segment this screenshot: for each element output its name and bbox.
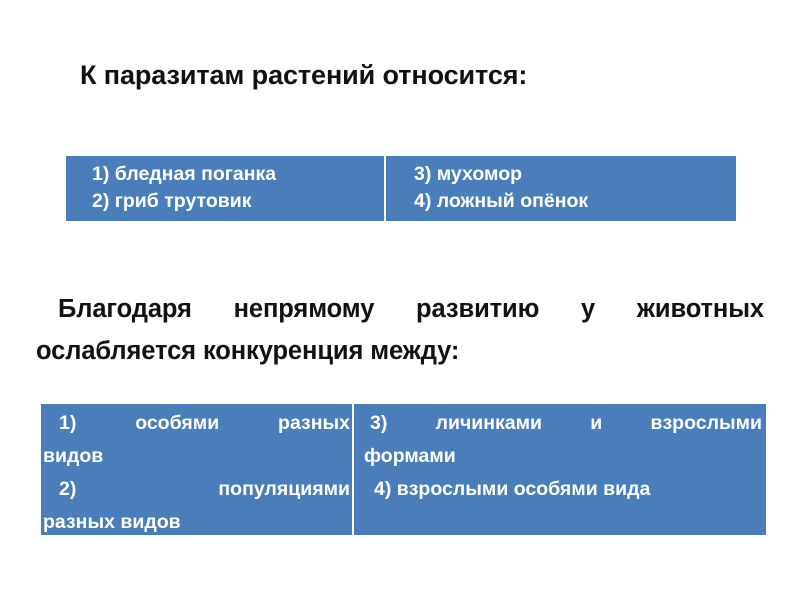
question-2-heading-line-2: ослабляется конкуренция между: (36, 330, 764, 372)
question-2-heading: Благодаря непрямому развитию у животных … (36, 288, 764, 372)
answer-option-line-1: 2) популяциями (43, 473, 350, 506)
answer-option[interactable]: 4) взрослыми особями вида (364, 473, 762, 506)
answer-option-line-2: формами (364, 440, 762, 473)
answer-option[interactable]: 3) личинками и взрослыми формами (364, 407, 762, 473)
answer-option-word: особями (135, 412, 219, 434)
answer-option-line-2: разных видов (43, 506, 350, 535)
answer-option[interactable]: 1) особями разных видов (43, 407, 350, 473)
answer-option-text: 4) взрослыми особями вида (374, 478, 650, 500)
answer-option-marker: 2) (43, 478, 76, 500)
slide-canvas: К паразитам растений относится: 1) бледн… (0, 0, 800, 600)
answer-option[interactable]: 4) ложный опёнок (414, 188, 736, 215)
answer-option-word: и (590, 412, 602, 434)
answer-option-line-1: 3) личинками и взрослыми (364, 407, 762, 440)
question-2-answer-table: 1) особями разных видов 2) популяциями р… (41, 404, 766, 535)
answer-option-marker: 3) (364, 412, 387, 434)
question-2-heading-line-1: Благодаря непрямому развитию у животных (36, 288, 764, 330)
question-2-answers-right-column: 3) личинками и взрослыми формами 4) взро… (354, 404, 766, 535)
question-1-answers-left-column: 1) бледная поганка 2) гриб трутовик (66, 156, 386, 221)
answer-option[interactable]: 2) гриб трутовик (92, 188, 384, 215)
question-2-answers-left-column: 1) особями разных видов 2) популяциями р… (41, 404, 354, 535)
answer-option-line-2: видов (43, 440, 350, 473)
answer-option[interactable]: 1) бледная поганка (92, 161, 384, 188)
answer-option-word: популяциями (218, 478, 350, 500)
answer-option-word: личинками (436, 412, 542, 434)
question-1-answer-table: 1) бледная поганка 2) гриб трутовик 3) м… (66, 156, 736, 221)
answer-option-word: разных (278, 412, 350, 434)
answer-option-word: взрослыми (650, 412, 762, 434)
answer-option-marker: 1) (43, 412, 76, 434)
answer-option-line-1: 1) особями разных (43, 407, 350, 440)
question-1-heading: К паразитам растений относится: (80, 58, 720, 92)
question-2-heading-line-1-text: Благодаря непрямому развитию у животных (58, 295, 764, 323)
question-1-answers-right-column: 3) мухомор 4) ложный опёнок (386, 156, 736, 221)
answer-option[interactable]: 3) мухомор (414, 161, 736, 188)
answer-option[interactable]: 2) популяциями разных видов (43, 473, 350, 535)
question-2-heading-line-2-text: ослабляется конкуренция между: (36, 337, 459, 365)
